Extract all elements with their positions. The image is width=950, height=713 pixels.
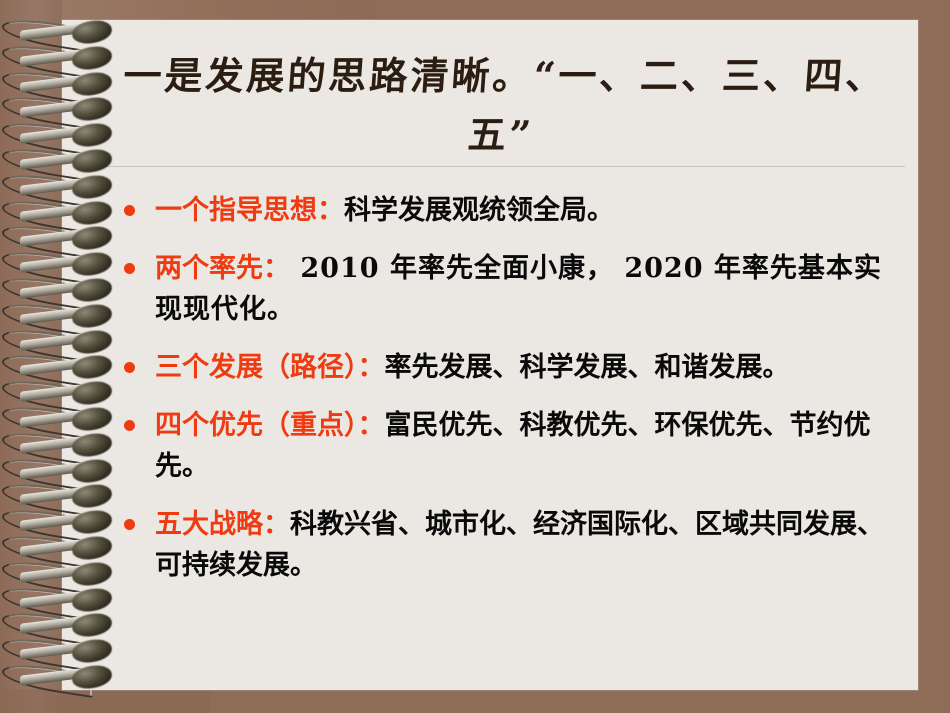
list-item-separator: ： <box>263 509 290 540</box>
page-title-line-2: 五” <box>104 105 898 164</box>
list-item-highlight: 四个优先（重点） <box>155 410 358 441</box>
list-item-separator: ： <box>263 253 290 284</box>
list-item-highlight: 五大战略 <box>155 509 263 540</box>
list-item-text: 三个发展（路径）：率先发展、科学发展、和谐发展。 <box>155 352 790 383</box>
list-item-highlight: 三个发展（路径） <box>155 352 358 383</box>
list-item-separator: ： <box>358 410 385 441</box>
bullet-list: 一个指导思想：科学发展观统领全局。 两个率先： 2010 年率先全面小康， 20… <box>108 190 908 603</box>
list-item: 五大战略：科教兴省、城市化、经济国际化、区域共同发展、可持续发展。 <box>108 504 908 586</box>
notebook-page: 一是发展的思路清晰。“一、二、三、四、 五” 一个指导思想：科学发展观统领全局。… <box>62 20 918 690</box>
bullet-dot-icon <box>124 205 135 216</box>
list-item-text: 一个指导思想：科学发展观统领全局。 <box>155 195 614 226</box>
bullet-dot-icon <box>124 420 135 431</box>
list-item-separator: ： <box>317 195 344 226</box>
background-wash-left <box>0 0 62 713</box>
page-title-line-1: 一是发展的思路清晰。“一、二、三、四、 <box>108 46 902 105</box>
list-item: 三个发展（路径）：率先发展、科学发展、和谐发展。 <box>108 347 908 388</box>
list-item-body: 科学发展观统领全局。 <box>344 195 614 226</box>
list-item-highlight: 两个率先 <box>155 253 263 284</box>
bullet-dot-icon <box>124 362 135 373</box>
list-item: 一个指导思想：科学发展观统领全局。 <box>108 190 908 231</box>
list-item-text: 两个率先： 2010 年率先全面小康， 2020 年率先基本实现现代化。 <box>155 253 882 325</box>
list-item-body: 率先发展、科学发展、和谐发展。 <box>385 352 790 383</box>
background-wash-bottom <box>0 689 210 713</box>
bullet-dot-icon <box>124 519 135 530</box>
title-divider <box>105 166 905 167</box>
bullet-dot-icon <box>124 263 135 274</box>
list-item-text: 四个优先（重点）：富民优先、科教优先、环保优先、节约优先。 <box>155 410 871 482</box>
list-item: 四个优先（重点）：富民优先、科教优先、环保优先、节约优先。 <box>108 405 908 487</box>
presentation-slide: 一是发展的思路清晰。“一、二、三、四、 五” 一个指导思想：科学发展观统领全局。… <box>0 0 950 713</box>
list-item-separator: ： <box>358 352 385 383</box>
list-item-highlight: 一个指导思想 <box>155 195 317 226</box>
page-title: 一是发展的思路清晰。“一、二、三、四、 五” <box>104 46 902 164</box>
list-item: 两个率先： 2010 年率先全面小康， 2020 年率先基本实现现代化。 <box>108 248 908 330</box>
list-item-text: 五大战略：科教兴省、城市化、经济国际化、区域共同发展、可持续发展。 <box>155 509 884 581</box>
